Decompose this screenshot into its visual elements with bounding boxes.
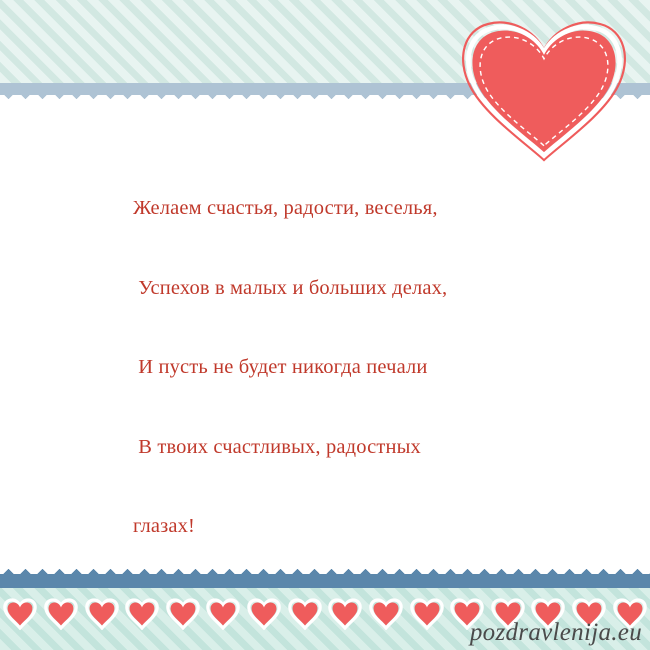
greeting-line-3: И пусть не будет никогда печали [133, 354, 553, 381]
mini-heart-icon [247, 598, 281, 630]
greeting-line-4: В твоих счастливых, радостных [133, 434, 553, 461]
mini-heart-icon [288, 598, 322, 630]
mini-heart-icon [369, 598, 403, 630]
greeting-line-2: Успехов в малых и больших делах, [133, 275, 553, 302]
mini-heart-icon [44, 598, 78, 630]
greeting-card: Желаем счастья, радости, веселья, Успехо… [0, 0, 650, 650]
mini-heart-icon [125, 598, 159, 630]
mini-heart-icon [3, 598, 37, 630]
mini-heart-icon [85, 598, 119, 630]
bottom-zigzag-edge [0, 564, 650, 574]
mini-heart-icon [206, 598, 240, 630]
greeting-line-5: глазах! [133, 513, 553, 540]
mini-heart-icon [410, 598, 444, 630]
mini-heart-icon [328, 598, 362, 630]
mini-heart-icon [166, 598, 200, 630]
greeting-text: Желаем счастья, радости, веселья, Успехо… [133, 142, 553, 593]
greeting-line-1: Желаем счастья, радости, веселья, [133, 195, 553, 222]
bottom-blue-band [0, 574, 650, 588]
watermark: pozdravlenija.eu [470, 619, 642, 647]
